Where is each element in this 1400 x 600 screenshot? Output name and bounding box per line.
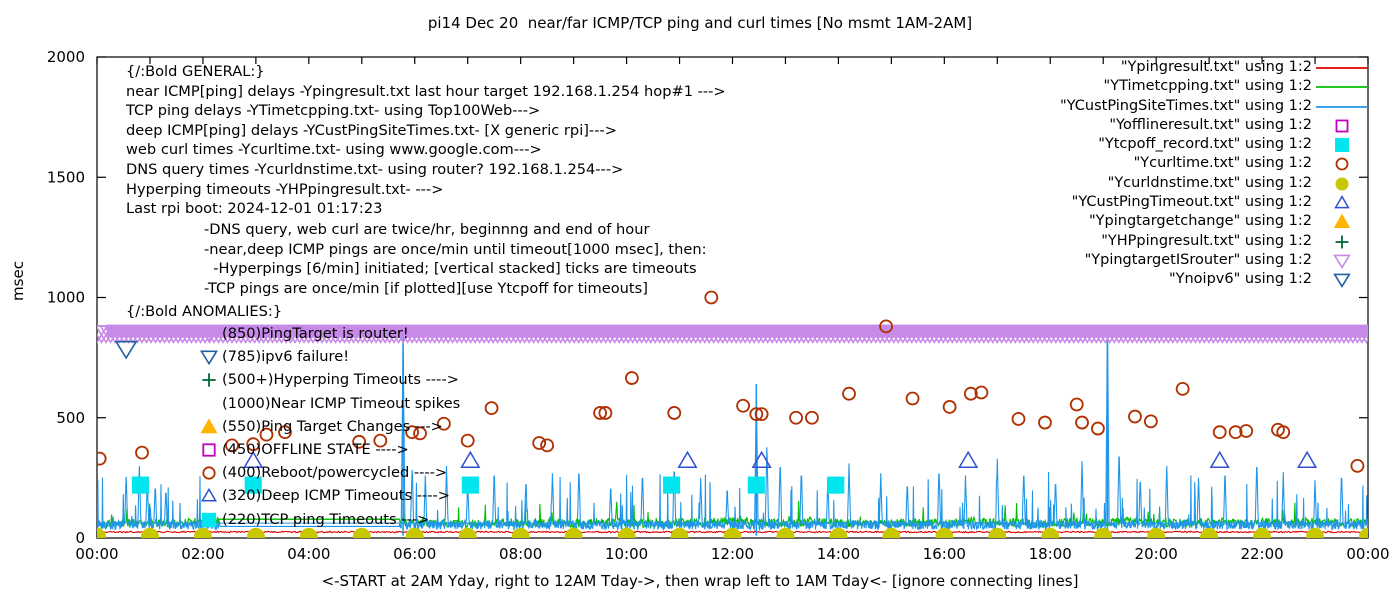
- legend-label: "Yofflineresult.txt" using 1:2: [1109, 116, 1312, 135]
- anomaly-key-icon: [203, 467, 214, 478]
- x-tick-label: 10:00: [605, 545, 648, 563]
- legend-item: "Yofflineresult.txt" using 1:2: [960, 116, 1370, 135]
- anomaly-marker-none: [196, 392, 222, 415]
- x-tick-label: 16:00: [923, 545, 966, 563]
- marker-ycustpingtimeout: [462, 452, 480, 467]
- marker-ycurltime: [1012, 413, 1024, 425]
- marker-ycurltime: [136, 447, 148, 459]
- legend-item: "Ytcpoff_record.txt" using 1:2: [960, 135, 1370, 154]
- general-heading: {/:Bold GENERAL:}: [126, 62, 726, 82]
- marker-ycurltime: [1145, 415, 1157, 427]
- marker-ycurldnstime: [777, 528, 794, 545]
- marker-ycurldnstime: [830, 528, 847, 545]
- x-tick-label: 08:00: [499, 545, 542, 563]
- general-text-block: {/:Bold GENERAL:}near ICMP[ping] delays …: [126, 62, 726, 219]
- general-line: Hyperping timeouts -YHPpingresult.txt- -…: [126, 180, 726, 200]
- marker-ycurldnstime: [1095, 528, 1112, 545]
- marker-ytcpoff: [828, 477, 844, 493]
- legend-item: "Ycurldnstime.txt" using 1:2: [960, 174, 1370, 193]
- marker-ynoipv6: [116, 342, 136, 358]
- marker-ycurltime: [486, 402, 498, 414]
- anomaly-label: (220)TCP ping Timeouts --->: [222, 508, 429, 531]
- anomaly-label: (550)Ping Target Changes --->: [222, 415, 443, 438]
- note-line: -near,deep ICMP pings are once/min until…: [204, 240, 707, 260]
- marker-ytcpoff: [748, 477, 764, 493]
- general-line: deep ICMP[ping] delays -YCustPingSiteTim…: [126, 121, 726, 141]
- marker-ycurltime: [1177, 383, 1189, 395]
- marker-ycurltime: [705, 292, 717, 304]
- legend-label: "Ycurltime.txt" using 1:2: [1134, 154, 1312, 173]
- anomaly-label: (785)ipv6 failure!: [222, 345, 349, 368]
- legend-label: "Ypingresult.txt" using 1:2: [1121, 58, 1312, 77]
- y-tick-label: 1000: [47, 289, 85, 307]
- legend-item: "YHPpingresult.txt" using 1:2: [960, 232, 1370, 251]
- note-line: -TCP pings are once/min [if plotted][use…: [204, 279, 707, 299]
- marker-ycurltime: [843, 388, 855, 400]
- legend-item: "Ypingtargetchange" using 1:2: [960, 212, 1370, 231]
- marker-ycurltime: [1076, 417, 1088, 429]
- x-tick-label: 04:00: [287, 545, 330, 563]
- x-tick-label: 18:00: [1029, 545, 1072, 563]
- marker-ycurltime: [462, 435, 474, 447]
- marker-ycurldnstime: [1042, 528, 1059, 545]
- legend-key-line: [1314, 97, 1370, 116]
- anomaly-key-icon: [201, 351, 216, 363]
- marker-ycurldnstime: [936, 528, 953, 545]
- y-tick-label: 2000: [47, 48, 85, 66]
- legend-marker-swatch: [1336, 197, 1349, 208]
- marker-ycurltime: [737, 400, 749, 412]
- marker-ycurldnstime: [1201, 528, 1218, 545]
- marker-ycurltime: [806, 412, 818, 424]
- legend-label: "YHPpingresult.txt" using 1:2: [1101, 232, 1312, 251]
- marker-ycurltime: [541, 439, 553, 451]
- x-tick-label: 02:00: [181, 545, 224, 563]
- marker-ycustpingtimeout: [1211, 452, 1229, 467]
- legend-label: "Ypingtargetchange" using 1:2: [1089, 212, 1312, 231]
- marker-ycurltime: [1351, 460, 1363, 472]
- anomaly-label: (450)OFFLINE STATE ---->: [222, 438, 409, 461]
- marker-ycurldnstime: [1307, 528, 1324, 545]
- marker-ycurltime: [1129, 411, 1141, 423]
- legend-marker-swatch: [1336, 120, 1347, 131]
- anomaly-marker-tri-up-fill: [196, 415, 222, 438]
- legend-label: "YTimetcpping.txt" using 1:2: [1104, 77, 1312, 96]
- legend-marker-swatch: [1335, 215, 1350, 228]
- legend-key-line: [1314, 58, 1370, 77]
- marker-ycurldnstime: [989, 528, 1006, 545]
- marker-ycurldnstime: [724, 528, 741, 545]
- x-tick-label: 06:00: [393, 545, 436, 563]
- anomaly-label: (850)PingTarget is router!: [222, 322, 409, 345]
- marker-ycurldnstime: [406, 528, 423, 545]
- marker-ycurldnstime: [512, 528, 529, 545]
- legend-item: "Ycurltime.txt" using 1:2: [960, 154, 1370, 173]
- legend-key-tri-dn-open2: [1314, 270, 1370, 289]
- y-tick-label: 1500: [47, 168, 85, 186]
- legend-label: "Ytcpoff_record.txt" using 1:2: [1098, 135, 1312, 154]
- legend-marker-swatch: [1335, 255, 1350, 267]
- legend-item: "YpingtargetISrouter" using 1:2: [960, 251, 1370, 270]
- marker-ycurltime: [94, 453, 106, 465]
- general-line: TCP ping delays -YTimetcpping.txt- using…: [126, 101, 726, 121]
- marker-ycurldnstime: [459, 528, 476, 545]
- marker-ycurltime: [907, 393, 919, 405]
- marker-ycurldnstime: [565, 528, 582, 545]
- x-tick-label: 00:00: [1346, 545, 1389, 563]
- anomaly-key-icon: [202, 513, 215, 526]
- marker-ycustpingtimeout: [679, 452, 697, 467]
- anomaly-marker-plus: [196, 368, 222, 391]
- marker-ycurldnstime: [142, 528, 159, 545]
- general-line: near ICMP[ping] delays -Ypingresult.txt …: [126, 82, 726, 102]
- x-tick-label: 00:00: [75, 545, 118, 563]
- legend-item: "Ynoipv6" using 1:2: [960, 270, 1370, 289]
- legend-key-square-fill: [1314, 135, 1370, 154]
- legend-label: "Ycurldnstime.txt" using 1:2: [1108, 174, 1312, 193]
- legend-marker-swatch: [1336, 178, 1348, 190]
- marker-ycustpingtimeout: [959, 452, 977, 467]
- marker-ycurltime: [1092, 423, 1104, 435]
- marker-ycurltime: [1214, 426, 1226, 438]
- legend-label: "YCustPingTimeout.txt" using 1:2: [1072, 193, 1312, 212]
- note-line: -Hyperpings [6/min] initiated; [vertical…: [204, 259, 707, 279]
- anomaly-label: (400)Reboot/powercycled ---->: [222, 461, 447, 484]
- legend-key-tri-up-open: [1314, 193, 1370, 212]
- marker-ycurldnstime: [89, 528, 106, 545]
- note-line: -DNS query, web curl are twice/hr, begin…: [204, 220, 707, 240]
- anomaly-label: (320)Deep ICMP Timeouts ---->: [222, 484, 450, 507]
- marker-ycurltime: [626, 372, 638, 384]
- marker-ycustpingtimeout: [1298, 452, 1316, 467]
- notes-text-block: -DNS query, web curl are twice/hr, begin…: [204, 220, 707, 298]
- legend-marker-swatch: [1336, 139, 1349, 152]
- x-tick-label: 14:00: [817, 545, 860, 563]
- anomaly-key-icon: [201, 419, 216, 432]
- marker-ycurltime: [944, 401, 956, 413]
- marker-ycurltime: [790, 412, 802, 424]
- marker-ycurldnstime: [247, 528, 264, 545]
- marker-ycurltime: [1071, 399, 1083, 411]
- anomaly-marker-circle-open: [196, 461, 222, 484]
- general-line: Last rpi boot: 2024-12-01 01:17:23: [126, 199, 726, 219]
- legend-key-plus: [1314, 232, 1370, 251]
- legend-label: "YpingtargetISrouter" using 1:2: [1085, 251, 1312, 270]
- anomaly-key-icon: [202, 490, 215, 501]
- anomaly-marker-square-fill: [196, 508, 222, 531]
- x-axis-caption: <-START at 2AM Yday, right to 12AM Tday-…: [0, 572, 1400, 590]
- legend-item: "Ypingresult.txt" using 1:2: [960, 58, 1370, 77]
- y-tick-label: 500: [56, 409, 85, 427]
- marker-ycurldnstime: [1148, 528, 1165, 545]
- x-tick-label: 12:00: [711, 545, 754, 563]
- legend-label: "YCustPingSiteTimes.txt" using 1:2: [1060, 97, 1312, 116]
- anomaly-label: (1000)Near ICMP Timeout spikes: [222, 392, 460, 415]
- legend-item: "YCustPingSiteTimes.txt" using 1:2: [960, 97, 1370, 116]
- marker-ycurldnstime: [618, 528, 635, 545]
- legend-label: "Ynoipv6" using 1:2: [1169, 270, 1312, 289]
- anomaly-marker-tri-dn-open: [196, 322, 222, 345]
- x-tick-label: 22:00: [1240, 545, 1283, 563]
- general-line: DNS query times -Ycurldnstime.txt- using…: [126, 160, 726, 180]
- legend-item: "YTimetcpping.txt" using 1:2: [960, 77, 1370, 96]
- marker-ytcpoff: [664, 477, 680, 493]
- gnuplot-screenshot: pi14 Dec 20 near/far ICMP/TCP ping and c…: [0, 0, 1400, 600]
- anomaly-label: (500+)Hyperping Timeouts ---->: [222, 368, 459, 391]
- anomaly-marker-square-open: [196, 438, 222, 461]
- marker-ycurldnstime: [883, 528, 900, 545]
- legend-marker-swatch: [1336, 159, 1347, 170]
- general-line: web curl times -Ycurltime.txt- using www…: [126, 140, 726, 160]
- marker-ycurltime: [668, 407, 680, 419]
- legend: "Ypingresult.txt" using 1:2"YTimetcpping…: [960, 58, 1370, 290]
- anomaly-marker-tri-up-open: [196, 484, 222, 507]
- legend-marker-swatch: [1335, 275, 1350, 287]
- marker-ycurltime: [533, 437, 545, 449]
- legend-key-circle-fill: [1314, 174, 1370, 193]
- legend-key-tri-up-fill: [1314, 212, 1370, 231]
- marker-ytcpoff: [462, 477, 478, 493]
- marker-ycurldnstime: [1360, 528, 1377, 545]
- legend-key-square-open: [1314, 116, 1370, 135]
- marker-ycurltime: [1039, 417, 1051, 429]
- anomaly-key-icon: [203, 444, 214, 455]
- marker-ycurldnstime: [1254, 528, 1271, 545]
- marker-ycurldnstime: [671, 528, 688, 545]
- y-axis-label: msec: [9, 246, 27, 316]
- legend-item: "YCustPingTimeout.txt" using 1:2: [960, 193, 1370, 212]
- legend-key-line: [1314, 77, 1370, 96]
- marker-ytcpoff: [132, 477, 148, 493]
- marker-ycurldnstime: [300, 528, 317, 545]
- x-tick-label: 20:00: [1135, 545, 1178, 563]
- anomaly-key-icon: [201, 328, 216, 340]
- marker-ycurldnstime: [353, 528, 370, 545]
- legend-key-tri-dn-open: [1314, 251, 1370, 270]
- anomalies-heading: {/:Bold ANOMALIES:}: [126, 303, 282, 320]
- anomaly-marker-tri-dn-open2: [196, 345, 222, 368]
- legend-key-circle-open: [1314, 154, 1370, 173]
